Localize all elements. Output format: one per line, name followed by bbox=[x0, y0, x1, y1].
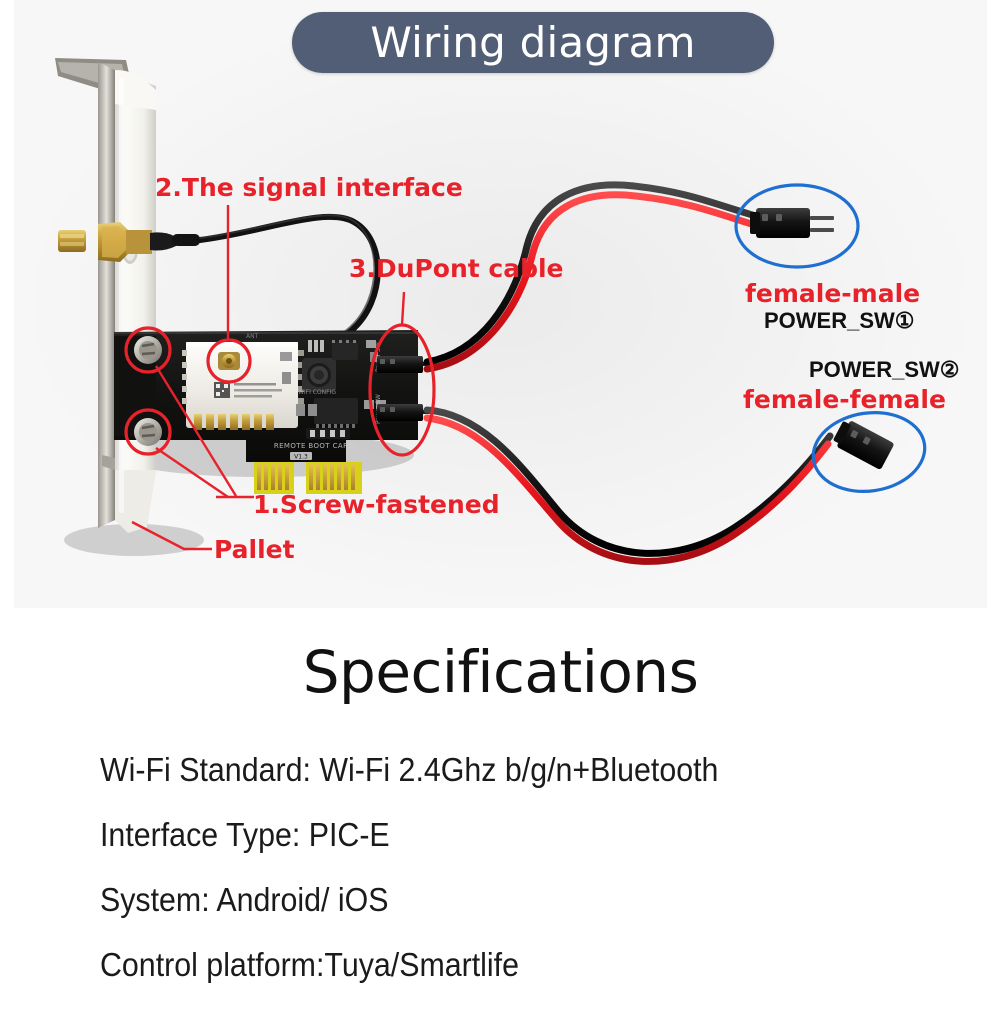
specifications-list: Wi-Fi Standard: Wi-Fi 2.4Ghz b/g/n+Bluet… bbox=[100, 753, 960, 1013]
svg-text:ANT: ANT bbox=[246, 333, 259, 340]
spec-item-control-platform: Control platform:Tuya/Smartlife bbox=[100, 948, 891, 981]
annotation-female-male: female-male bbox=[745, 281, 920, 306]
page-title: Wiring diagram bbox=[370, 22, 695, 64]
ipex-signal-connector bbox=[218, 352, 240, 370]
specifications-heading: Specifications bbox=[0, 643, 1001, 701]
annotation-power-sw-2: POWER_SW② bbox=[809, 359, 960, 381]
svg-text:V1.3: V1.3 bbox=[294, 454, 308, 461]
svg-text:WIFI CONFIG: WIFI CONFIG bbox=[298, 389, 336, 396]
annotation-dupont-cable: 3.DuPont cable bbox=[349, 256, 564, 281]
spec-item-wifi-standard: Wi-Fi Standard: Wi-Fi 2.4Ghz b/g/n+Bluet… bbox=[100, 753, 891, 786]
annotation-power-sw-1: POWER_SW① bbox=[764, 310, 915, 332]
product-photo-panel: REMOTE BOOT CARD V1.3 bbox=[14, 0, 987, 608]
wiring-diagram-title-banner: Wiring diagram bbox=[292, 12, 774, 73]
annotation-female-female: female-female bbox=[743, 387, 946, 412]
annotation-signal-interface: 2.The signal interface bbox=[155, 175, 463, 200]
spec-item-system: System: Android/ iOS bbox=[100, 883, 891, 916]
annotation-pallet: Pallet bbox=[214, 537, 295, 562]
pcb-silkscreen: REMOTE BOOT CARD bbox=[274, 442, 354, 450]
annotation-screw-fastened: 1.Screw-fastened bbox=[253, 492, 500, 517]
specifications-section: Specifications Wi-Fi Standard: Wi-Fi 2.4… bbox=[0, 608, 1001, 1001]
spec-item-interface-type: Interface Type: PIC-E bbox=[100, 818, 891, 851]
